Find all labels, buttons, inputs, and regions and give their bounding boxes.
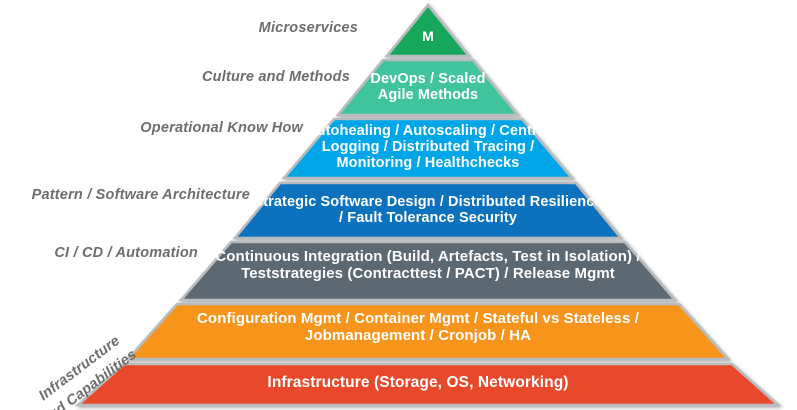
tier-shape-infrastructure[interactable]	[78, 364, 778, 405]
tier-shape-pattern-software-architecture[interactable]	[235, 183, 621, 238]
side-label-pattern-software-architecture: Pattern / Software Architecture	[0, 187, 250, 203]
tier-shape-infrastructure-cloud-capabilities[interactable]	[128, 304, 728, 359]
side-label-microservices: Microservices	[140, 20, 358, 36]
side-label-ci-cd-automation: CI / CD / Automation	[0, 245, 198, 261]
tier-shape-microservices[interactable]	[387, 5, 469, 56]
tier-shape-operational-know-how[interactable]	[284, 119, 572, 178]
side-label-culture-and-methods: Culture and Methods	[100, 69, 350, 85]
tier-shape-culture-and-methods[interactable]	[338, 60, 518, 115]
side-label-operational-know-how: Operational Know How	[50, 120, 303, 136]
tier-shape-ci-cd-automation[interactable]	[181, 242, 675, 300]
pyramid-diagram: M DevOps / Scaled Agile Methods Autoheal…	[0, 0, 797, 410]
